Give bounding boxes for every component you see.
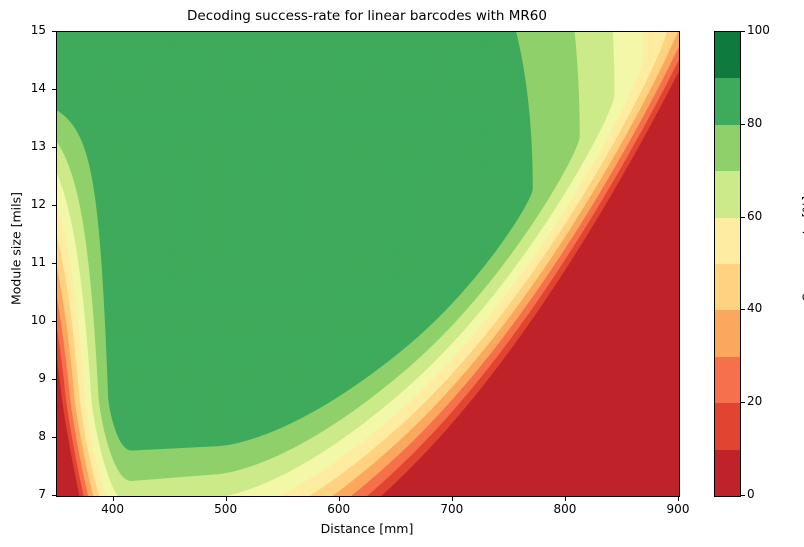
y-axis-label: Module size [mils] <box>9 149 24 349</box>
colorbar-band-70 <box>715 125 740 171</box>
colorbar-tick-label: 100 <box>747 23 770 37</box>
colorbar-band-0 <box>715 450 740 496</box>
colorbar-band-80 <box>715 78 740 124</box>
x-tick-mark <box>452 497 453 501</box>
y-tick-mark <box>52 89 56 90</box>
colorbar-band-20 <box>715 357 740 403</box>
y-tick-label: 14 <box>14 81 46 95</box>
x-tick-mark <box>226 497 227 501</box>
colorbar-band-10 <box>715 403 740 449</box>
colorbar-band-30 <box>715 310 740 356</box>
y-tick-label: 15 <box>14 23 46 37</box>
y-tick-label: 7 <box>14 487 46 501</box>
x-tick-label: 700 <box>422 502 482 516</box>
colorbar-tick-mark <box>741 217 745 218</box>
colorbar-label: Success rate [%] <box>800 149 804 349</box>
x-tick-label: 800 <box>535 502 595 516</box>
colorbar-band-60 <box>715 171 740 217</box>
colorbar-tick-label: 20 <box>747 394 762 408</box>
x-tick-label: 500 <box>196 502 256 516</box>
colorbar-tick-mark <box>741 31 745 32</box>
y-tick-mark <box>52 205 56 206</box>
colorbar-tick-label: 40 <box>747 301 762 315</box>
figure-container: Decoding success-rate for linear barcode… <box>0 0 804 547</box>
colorbar-tick-label: 80 <box>747 116 762 130</box>
colorbar-band-40 <box>715 264 740 310</box>
colorbar-band-90 <box>715 32 740 78</box>
colorbar <box>714 31 741 497</box>
colorbar-tick-mark <box>741 495 745 496</box>
page-title: Decoding success-rate for linear barcode… <box>56 8 678 24</box>
x-tick-label: 400 <box>83 502 143 516</box>
y-tick-mark <box>52 495 56 496</box>
colorbar-band-50 <box>715 218 740 264</box>
x-tick-mark <box>113 497 114 501</box>
contour-plot-axes <box>56 31 680 497</box>
colorbar-tick-mark <box>741 309 745 310</box>
contour-fill-svg <box>57 32 679 496</box>
x-tick-mark <box>339 497 340 501</box>
x-tick-mark <box>565 497 566 501</box>
x-tick-mark <box>678 497 679 501</box>
colorbar-tick-label: 0 <box>747 487 755 501</box>
x-tick-label: 600 <box>309 502 369 516</box>
colorbar-tick-label: 60 <box>747 209 762 223</box>
y-tick-mark <box>52 379 56 380</box>
x-tick-label: 900 <box>648 502 708 516</box>
colorbar-tick-mark <box>741 402 745 403</box>
colorbar-tick-mark <box>741 124 745 125</box>
y-tick-mark <box>52 263 56 264</box>
y-tick-label: 8 <box>14 429 46 443</box>
y-tick-label: 9 <box>14 371 46 385</box>
y-tick-mark <box>52 31 56 32</box>
y-tick-mark <box>52 147 56 148</box>
x-axis-label: Distance [mm] <box>56 521 678 536</box>
y-tick-mark <box>52 321 56 322</box>
y-tick-mark <box>52 437 56 438</box>
